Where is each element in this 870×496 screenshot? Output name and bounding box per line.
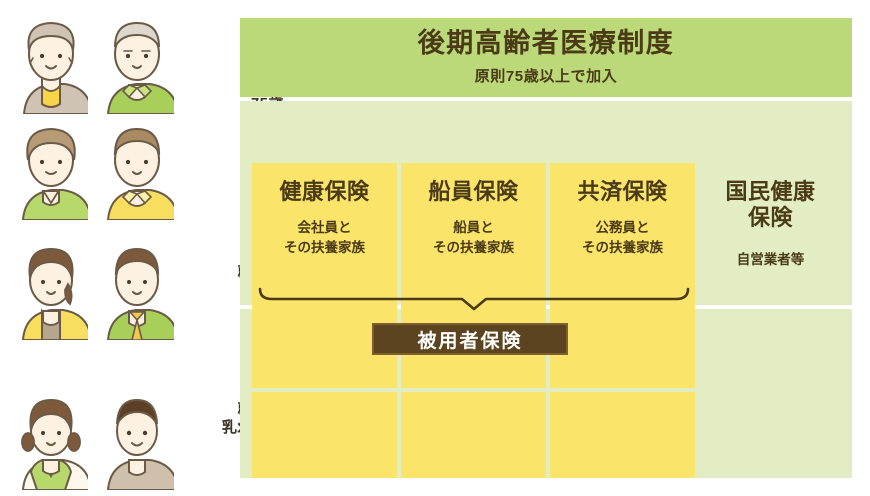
banner-subtitle: 原則75歳以上で加入 bbox=[475, 65, 618, 86]
mutual-aid-insurance-content: 共済保険 公務員と その扶養家族 bbox=[550, 179, 695, 257]
insurance-system-diagram: 75歳 退職 就労期 就学期 乳幼児期 後期高齢者医療制度 原則75歳以上で加入… bbox=[0, 0, 870, 496]
late-stage-elderly-banner: 後期高齢者医療制度 原則75歳以上で加入 bbox=[240, 18, 852, 97]
national-health-insurance-title: 国民健康 保険 bbox=[701, 179, 840, 232]
health-insurance-sub-line1: 会社員と bbox=[252, 218, 397, 238]
working-man-illustration bbox=[100, 240, 174, 340]
working-woman-illustration bbox=[14, 240, 88, 340]
seamens-insurance-subtitle: 船員と その扶養家族 bbox=[401, 218, 546, 257]
illustration-row-senior bbox=[14, 116, 174, 220]
national-health-insurance-content: 国民健康 保険 自営業者等 bbox=[701, 163, 840, 268]
mutual-aid-insurance-subtitle: 公務員と その扶養家族 bbox=[550, 218, 695, 257]
mutual-aid-insurance-sub-line1: 公務員と bbox=[550, 218, 695, 238]
health-insurance-child-cell bbox=[252, 392, 397, 478]
schoolboy-illustration bbox=[100, 390, 174, 490]
banner-title: 後期高齢者医療制度 bbox=[418, 29, 675, 59]
schoolgirl-illustration bbox=[14, 390, 88, 490]
elderly-woman-illustration bbox=[14, 14, 88, 114]
mutual-aid-insurance-title: 共済保険 bbox=[550, 179, 695, 204]
seamens-insurance-title: 船員保険 bbox=[401, 179, 546, 204]
mutual-aid-insurance-sub-line2: その扶養家族 bbox=[550, 238, 695, 258]
senior-woman-illustration bbox=[14, 120, 88, 220]
mutual-aid-insurance-child-cell bbox=[550, 392, 695, 478]
national-health-insurance-subtitle: 自営業者等 bbox=[701, 248, 840, 268]
seamens-insurance-sub-line1: 船員と bbox=[401, 218, 546, 238]
seamens-insurance-sub-line2: その扶養家族 bbox=[401, 238, 546, 258]
illustration-row-elderly bbox=[14, 10, 174, 114]
national-health-insurance-title-line2: 保険 bbox=[701, 205, 840, 231]
health-insurance-subtitle: 会社員と その扶養家族 bbox=[252, 218, 397, 257]
national-health-insurance-title-line1: 国民健康 bbox=[701, 179, 840, 205]
insurance-matrix: 後期高齢者医療制度 原則75歳以上で加入 健康保険 会社員と その扶養家族 船員… bbox=[240, 18, 852, 478]
senior-man-illustration bbox=[100, 120, 174, 220]
illustration-row-working bbox=[14, 236, 174, 340]
elderly-man-illustration bbox=[100, 14, 174, 114]
employee-insurance-badge: 被用者保険 bbox=[372, 323, 568, 355]
national-health-insurance-cell: 国民健康 保険 自営業者等 bbox=[701, 163, 840, 388]
mutual-aid-insurance-cell: 共済保険 公務員と その扶養家族 bbox=[550, 163, 695, 388]
seamens-insurance-content: 船員保険 船員と その扶養家族 bbox=[401, 179, 546, 257]
people-illustration-column bbox=[14, 8, 174, 488]
health-insurance-title: 健康保険 bbox=[252, 179, 397, 204]
seamens-insurance-child-cell bbox=[401, 392, 546, 478]
employee-insurance-brace bbox=[256, 286, 692, 312]
health-insurance-content: 健康保険 会社員と その扶養家族 bbox=[252, 179, 397, 257]
illustration-row-children bbox=[14, 386, 174, 490]
health-insurance-sub-line2: その扶養家族 bbox=[252, 238, 397, 258]
employee-insurance-badge-label: 被用者保険 bbox=[417, 326, 522, 353]
